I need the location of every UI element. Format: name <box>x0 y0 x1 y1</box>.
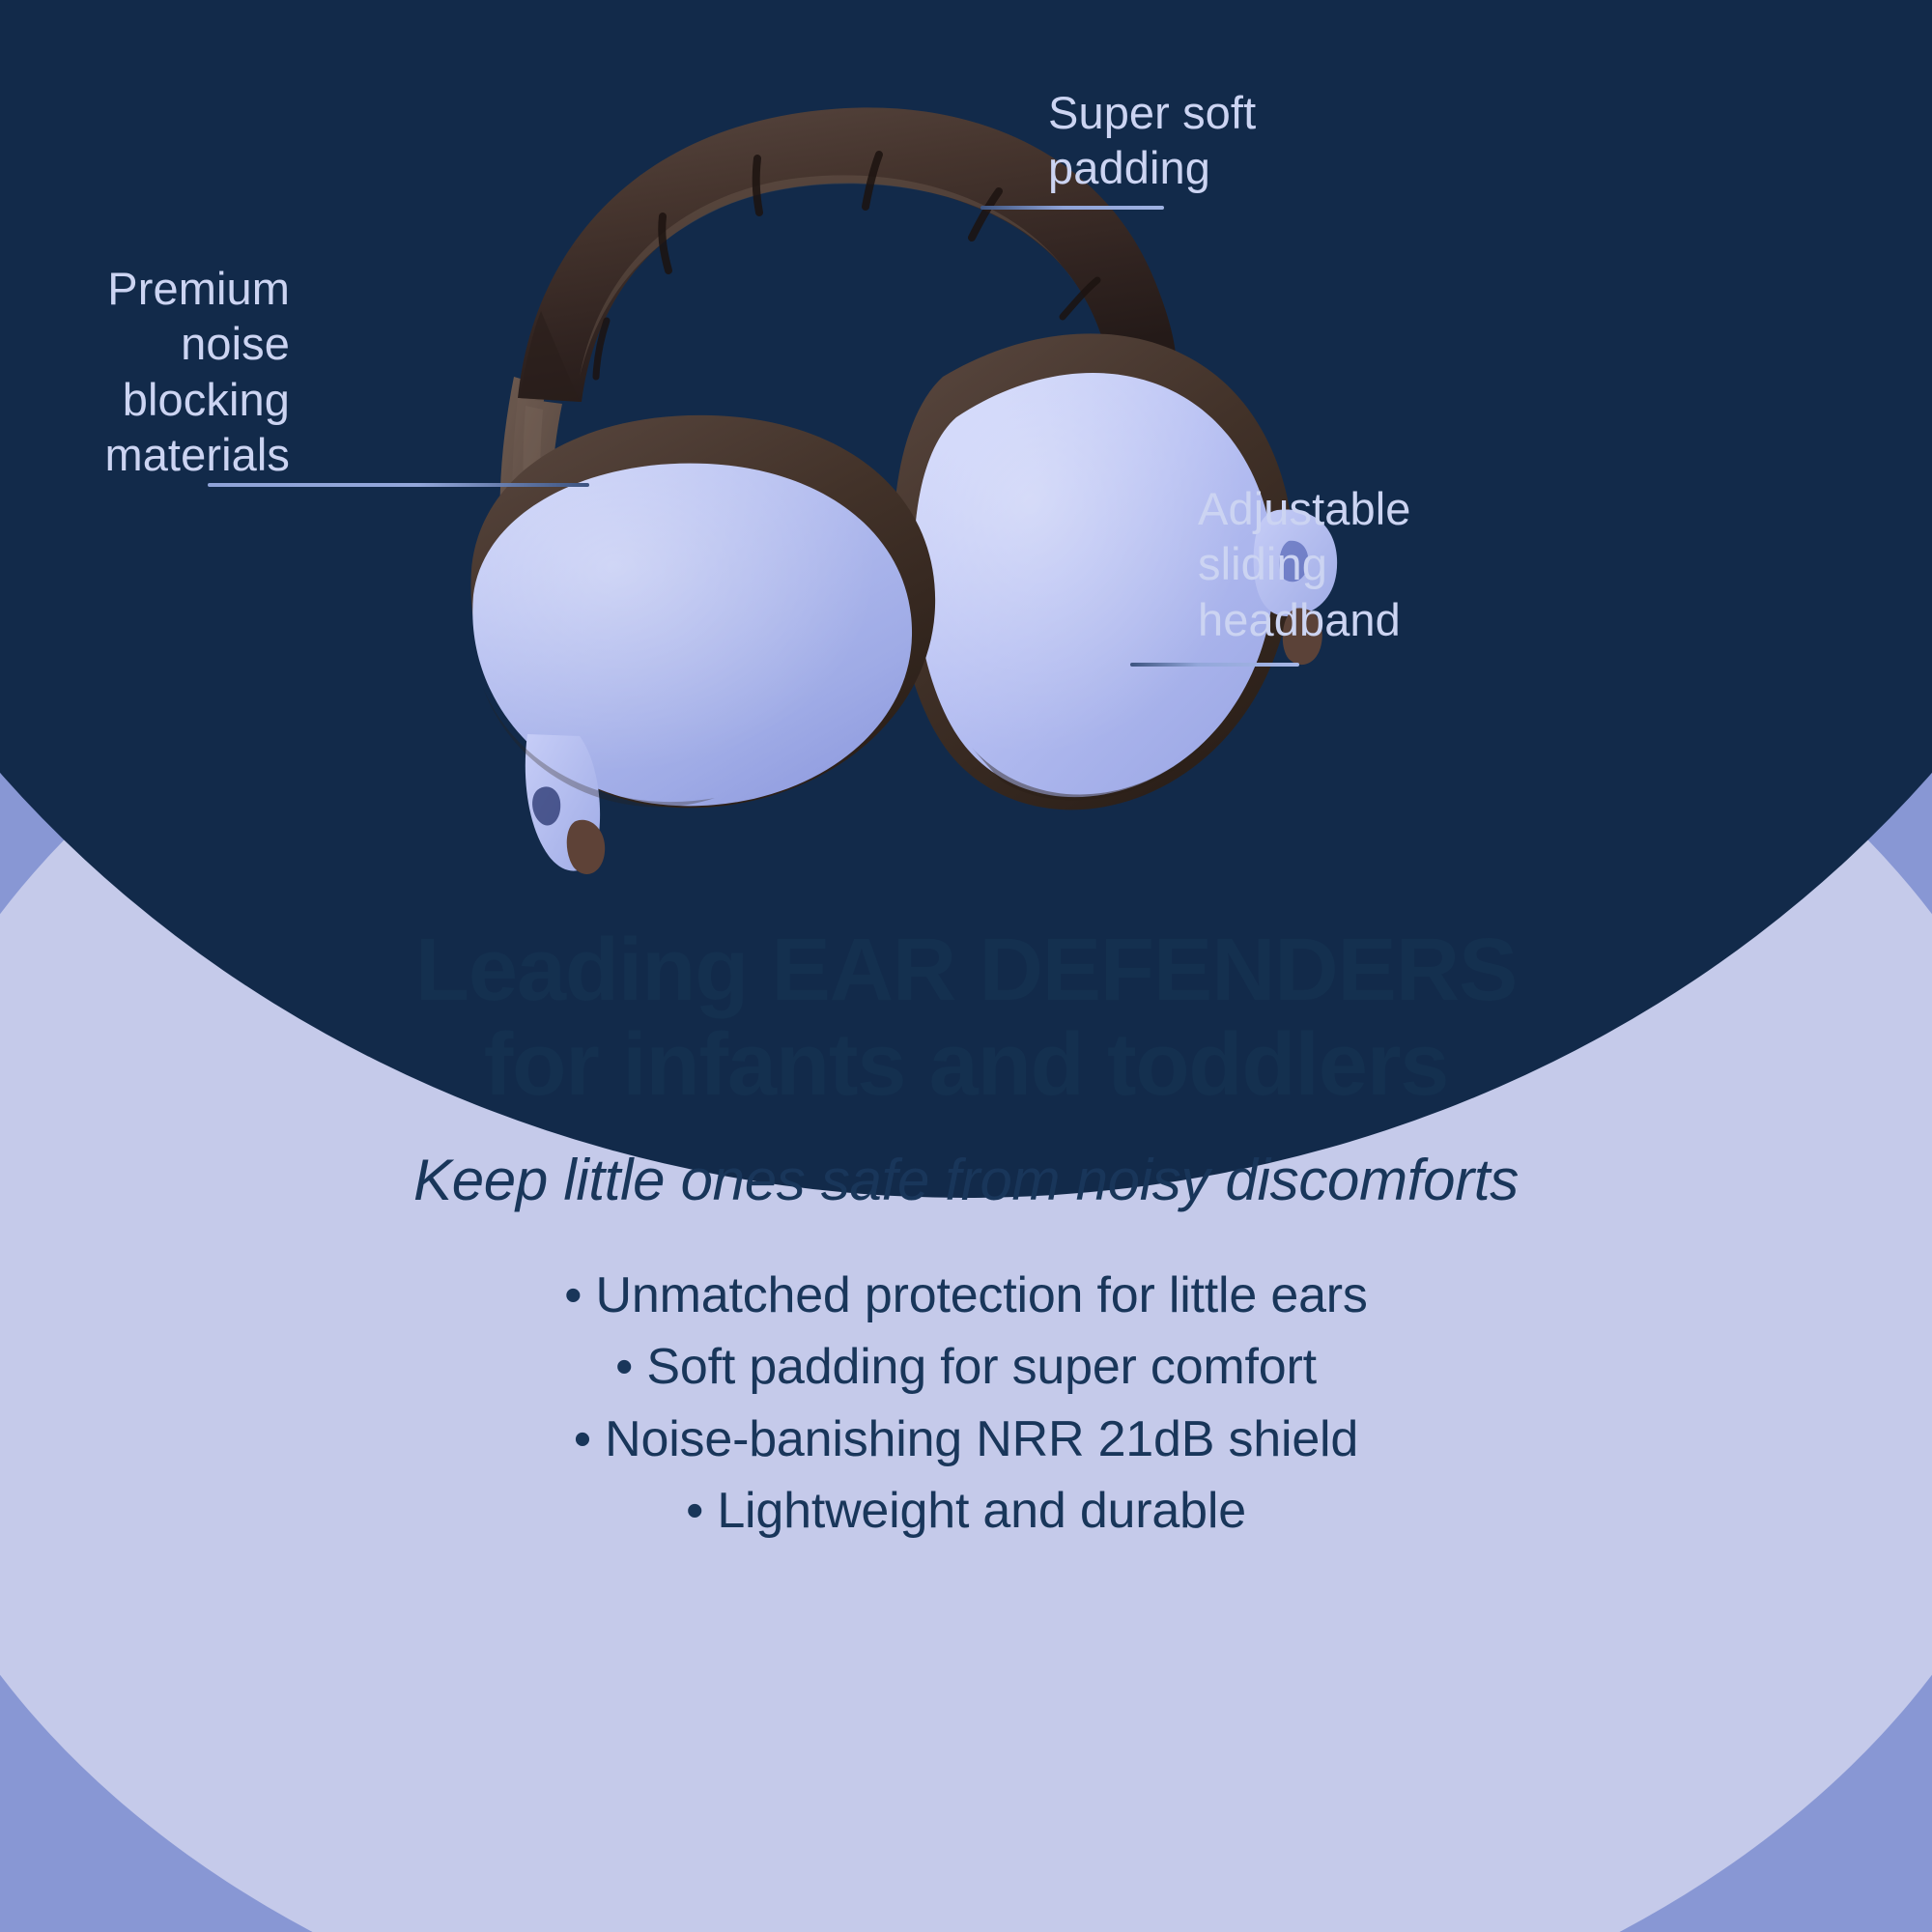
callout-line: headband <box>1198 592 1604 647</box>
callout-super-soft-padding: Super soft padding <box>1048 85 1454 196</box>
callout-premium-noise-blocking-materials: Premium noise blocking materials <box>48 261 290 482</box>
infographic-canvas: Super soft padding Premium noise blockin… <box>0 0 1932 1932</box>
callout-line: noise <box>48 316 290 371</box>
callout-line: Adjustable <box>1198 481 1604 536</box>
callout-line: padding <box>1048 140 1454 195</box>
callout-adjustable-sliding-headband: Adjustable sliding headband <box>1198 481 1604 647</box>
callout-line: materials <box>48 427 290 482</box>
list-item: • Unmatched protection for little ears <box>0 1260 1932 1331</box>
feature-bullet-list: • Unmatched protection for little ears •… <box>0 1260 1932 1547</box>
leader-line-super-soft-padding <box>980 206 1164 210</box>
headline-line-1: Leading EAR DEFENDERS <box>415 921 1517 1019</box>
subtitle: Keep little ones safe from noisy discomf… <box>0 1146 1932 1215</box>
leader-line-premium-noise <box>208 483 589 487</box>
callout-line: Super soft <box>1048 85 1454 140</box>
callout-line: sliding <box>1198 536 1604 591</box>
list-item: • Lightweight and durable <box>0 1475 1932 1547</box>
callout-line: Premium <box>48 261 290 316</box>
callout-line: blocking <box>48 372 290 427</box>
page-title: Leading EAR DEFENDERS for infants and to… <box>0 923 1932 1113</box>
list-item: • Soft padding for super comfort <box>0 1331 1932 1403</box>
leader-line-adjustable-headband <box>1130 663 1299 667</box>
list-item: • Noise-banishing NRR 21dB shield <box>0 1404 1932 1475</box>
headline-line-2: for infants and toddlers <box>116 1017 1816 1112</box>
marketing-copy-block: Leading EAR DEFENDERS for infants and to… <box>0 923 1932 1547</box>
